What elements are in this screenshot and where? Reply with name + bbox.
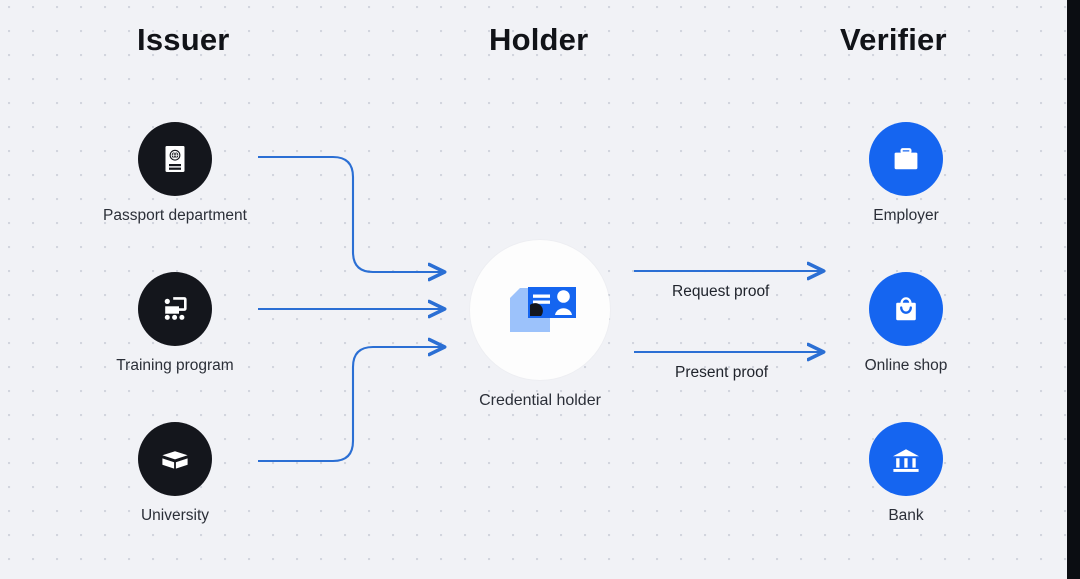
holder-node-credential-holder[interactable]: Credential holder (440, 240, 640, 410)
hand-holding-id-card-icon (470, 240, 610, 380)
arrow-label-request-proof: Request proof (672, 283, 769, 301)
arrow-passport-to-holder (258, 157, 443, 272)
circuit-chip-icon (138, 272, 212, 346)
passport-icon (138, 122, 212, 196)
verifier-label: Employer (806, 207, 1006, 225)
arrow-university-to-holder (258, 347, 443, 461)
verifier-node-online-shop[interactable]: Online shop (806, 272, 1006, 375)
verifier-node-bank[interactable]: Bank (806, 422, 1006, 525)
verifier-node-employer[interactable]: Employer (806, 122, 1006, 225)
issuer-label: Training program (75, 357, 275, 375)
holder-label: Credential holder (440, 392, 640, 410)
right-edge-bar (1067, 0, 1080, 579)
issuer-label: University (75, 507, 275, 525)
verifier-label: Bank (806, 507, 1006, 525)
issuer-node-university[interactable]: University (75, 422, 275, 525)
open-book-icon (138, 422, 212, 496)
diagram-canvas: Issuer Holder Verifier Request proof Pre… (0, 0, 1080, 579)
shopping-bag-icon (869, 272, 943, 346)
issuer-label: Passport department (75, 207, 275, 225)
verifier-label: Online shop (806, 357, 1006, 375)
bank-building-icon (869, 422, 943, 496)
arrow-label-present-proof: Present proof (675, 364, 768, 382)
briefcase-icon (869, 122, 943, 196)
issuer-node-training-program[interactable]: Training program (75, 272, 275, 375)
issuer-node-passport-department[interactable]: Passport department (75, 122, 275, 225)
